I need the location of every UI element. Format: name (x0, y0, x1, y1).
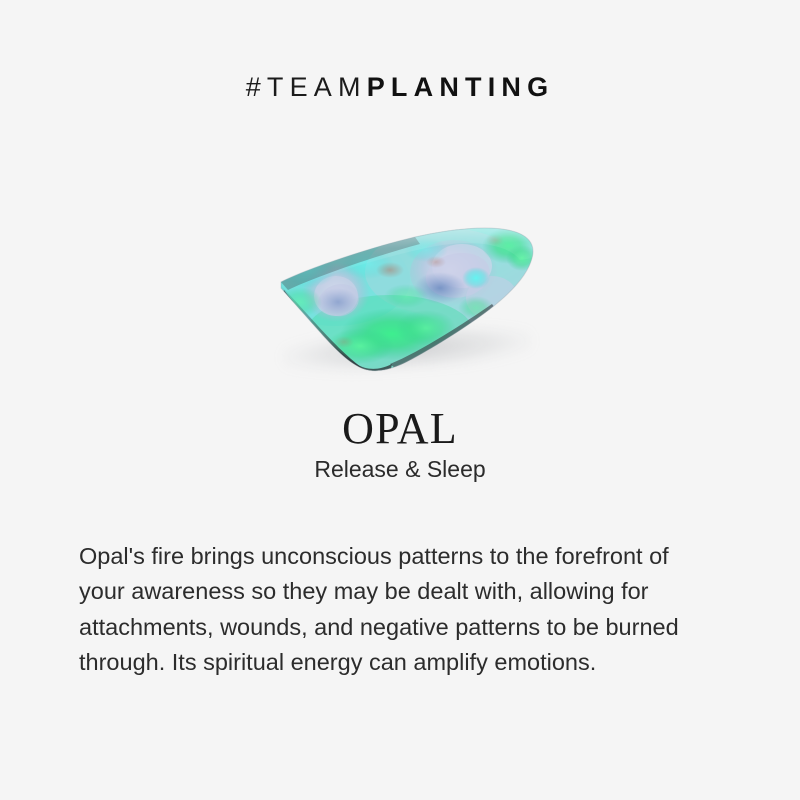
stone-tagline: Release & Sleep (0, 455, 800, 485)
opal-info-card: #TEAMPLANTING (0, 0, 800, 800)
brand-logo-prefix: #TEAM (246, 72, 367, 102)
brand-logo-suffix: PLANTING (367, 72, 555, 102)
opal-image-container (240, 210, 570, 395)
opal-stone-icon (240, 210, 570, 395)
brand-logo: #TEAMPLANTING (0, 74, 800, 101)
stone-description: Opal's fire brings unconscious patterns … (79, 539, 694, 681)
stone-name: OPAL (0, 405, 800, 453)
